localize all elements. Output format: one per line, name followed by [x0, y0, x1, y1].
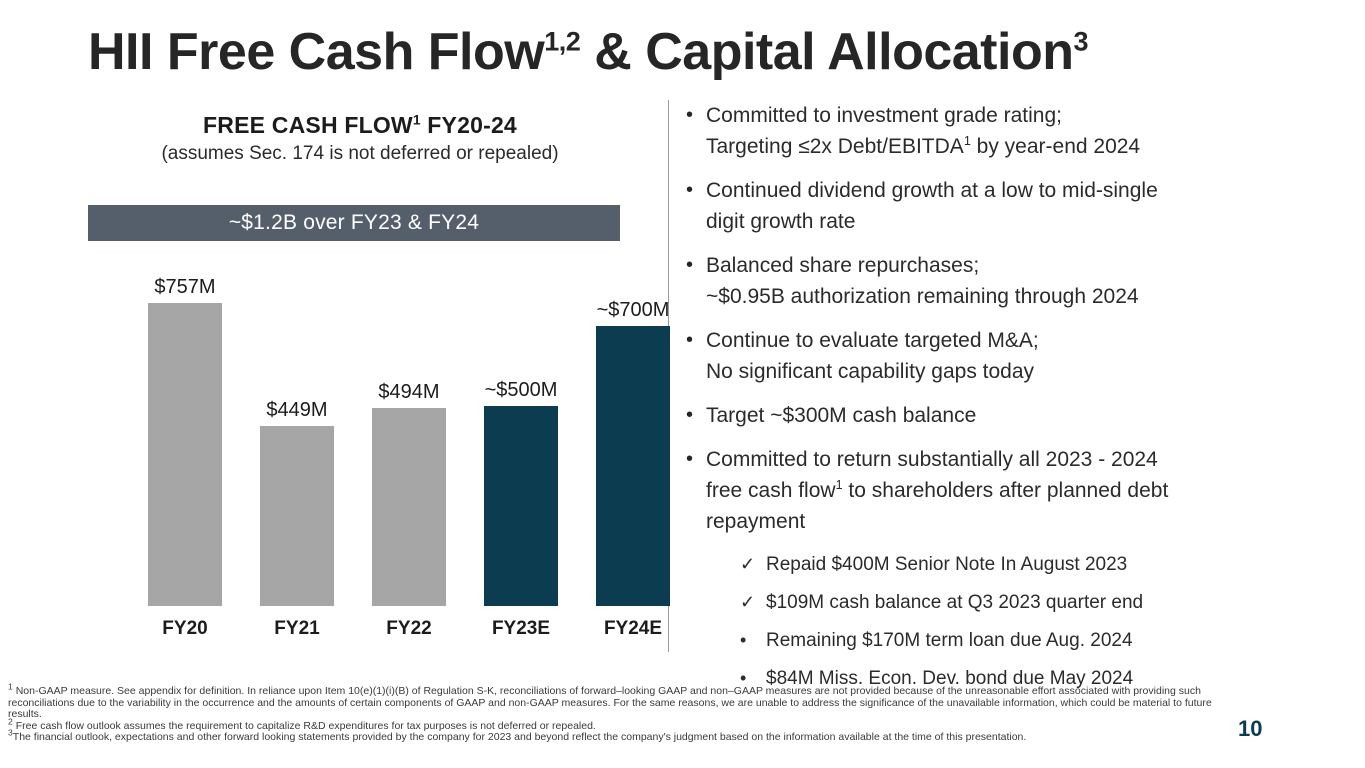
bullet-item-1: •Committed to investment grade rating;Ta…: [686, 100, 1286, 162]
page-number: 10: [1238, 716, 1262, 742]
bullet-text-2: Continued dividend growth at a low to mi…: [706, 175, 1158, 237]
bar-category-label-fy22: FY22: [386, 618, 431, 640]
bullet-dot-icon: •: [740, 626, 766, 655]
bar-value-label-fy22: $494M: [378, 381, 439, 404]
bullet-text-5: Target ~$300M cash balance: [706, 400, 976, 431]
bullet-item-5: •Target ~$300M cash balance: [686, 400, 1286, 431]
bullet-dot-icon: •: [686, 175, 706, 206]
bullet-text-3: Balanced share repurchases;~$0.95B autho…: [706, 250, 1139, 312]
bar-category-label-fy21: FY21: [274, 618, 319, 640]
sub-bullet-item-3: •Remaining $170M term loan due Aug. 2024: [740, 626, 1286, 655]
bar-value-label-fy21: $449M: [266, 399, 327, 422]
sub-bullet-item-2: ✓$109M cash balance at Q3 2023 quarter e…: [740, 588, 1286, 617]
page-title-part-2: & Capital Allocation: [580, 23, 1073, 81]
chart-title-suffix: FY20-24: [421, 112, 517, 138]
bar-fy23e: [484, 406, 558, 606]
page-title-superscript-2: 3: [1073, 27, 1088, 57]
bar-category-label-fy23e: FY23E: [492, 618, 550, 640]
bar-fy22: [372, 408, 446, 606]
bar-column-fy22: $494MFY22: [372, 262, 446, 642]
bullet-text-6: Committed to return substantially all 20…: [706, 444, 1168, 537]
bar-column-fy24e: ~$700MFY24E: [596, 262, 670, 642]
sub-bullet-text-2: $109M cash balance at Q3 2023 quarter en…: [766, 588, 1143, 617]
chart-title: FREE CASH FLOW1 FY20-24: [60, 112, 660, 139]
sub-bullet-text-3: Remaining $170M term loan due Aug. 2024: [766, 626, 1133, 655]
sub-bullet-text-1: Repaid $400M Senior Note In August 2023: [766, 550, 1127, 579]
bullet-item-4: •Continue to evaluate targeted M&A;No si…: [686, 325, 1286, 387]
chart-banner-label: ~$1.2B over FY23 & FY24: [229, 211, 479, 235]
bar-column-fy21: $449MFY21: [260, 262, 334, 642]
footnotes: 1 Non-GAAP measure. See appendix for def…: [8, 686, 1238, 744]
bullet-dot-icon: •: [686, 250, 706, 281]
chart-subtitle: (assumes Sec. 174 is not deferred or rep…: [60, 143, 660, 165]
bullet-dot-icon: •: [686, 325, 706, 356]
footnote-3: 3The financial outlook, expectations and…: [8, 732, 1238, 744]
bullet-item-2: •Continued dividend growth at a low to m…: [686, 175, 1286, 237]
bullet-dot-icon: •: [686, 400, 706, 431]
sub-bullet-list: ✓Repaid $400M Senior Note In August 2023…: [740, 550, 1286, 693]
chart-title-text: FREE CASH FLOW: [203, 112, 413, 138]
bar-value-label-fy20: $757M: [154, 276, 215, 299]
sub-bullet-item-1: ✓Repaid $400M Senior Note In August 2023: [740, 550, 1286, 579]
bar-category-label-fy20: FY20: [162, 618, 207, 640]
bullet-text-4: Continue to evaluate targeted M&A;No sig…: [706, 325, 1039, 387]
bullet-dot-icon: •: [686, 444, 706, 475]
bullet-item-3: •Balanced share repurchases;~$0.95B auth…: [686, 250, 1286, 312]
page-title-part-1: HII Free Cash Flow: [88, 23, 544, 81]
bar-column-fy23e: ~$500MFY23E: [484, 262, 558, 642]
bar-category-label-fy24e: FY24E: [604, 618, 662, 640]
capital-allocation-bullet-list: •Committed to investment grade rating;Ta…: [686, 100, 1286, 702]
bullet-item-6: •Committed to return substantially all 2…: [686, 444, 1286, 537]
chart-title-superscript: 1: [413, 112, 421, 127]
bar-value-label-fy23e: ~$500M: [485, 379, 558, 402]
bullet-text-1: Committed to investment grade rating;Tar…: [706, 100, 1140, 162]
bar-fy21: [260, 426, 334, 606]
bar-chart-plot-area: $757MFY20$449MFY21$494MFY22~$500MFY23E~$…: [60, 262, 660, 642]
bar-fy20: [148, 303, 222, 606]
page-title-superscript-1: 1,2: [544, 27, 580, 57]
footnote-1: 1 Non-GAAP measure. See appendix for def…: [8, 686, 1238, 721]
bar-column-fy20: $757MFY20: [148, 262, 222, 642]
check-icon: ✓: [740, 550, 766, 579]
check-icon: ✓: [740, 588, 766, 617]
bar-value-label-fy24e: ~$700M: [597, 299, 670, 322]
bar-fy24e: [596, 326, 670, 606]
chart-banner: ~$1.2B over FY23 & FY24: [88, 205, 620, 241]
free-cash-flow-chart: FREE CASH FLOW1 FY20-24 (assumes Sec. 17…: [60, 112, 660, 642]
bullet-dot-icon: •: [686, 100, 706, 131]
page-title: HII Free Cash Flow1,2 & Capital Allocati…: [88, 24, 1088, 81]
